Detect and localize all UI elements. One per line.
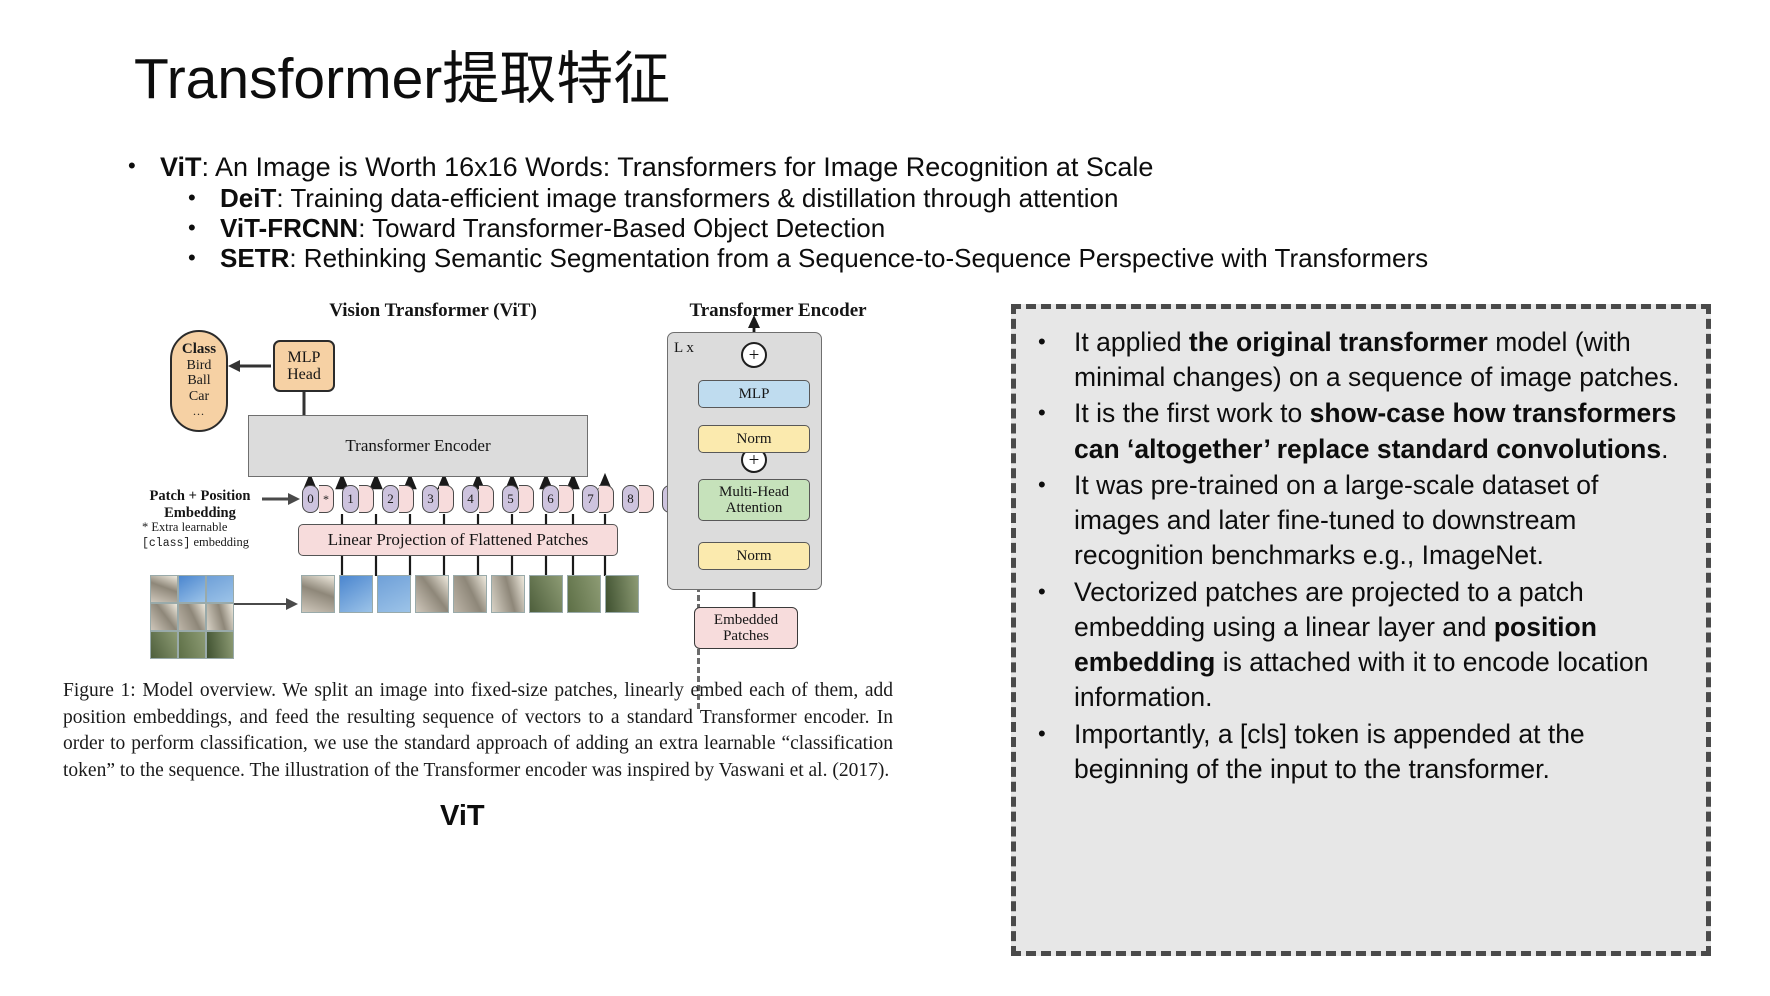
embedded-patches-block: Embedded Patches: [694, 607, 798, 649]
image-patch: [301, 575, 335, 613]
image-patch: [491, 575, 525, 613]
class-pill-ellipsis: ...: [172, 405, 226, 418]
embedded-line2: Patches: [714, 628, 778, 644]
extra-learnable-note: * Extra learnable [class] embedding: [142, 520, 274, 551]
patch-token-5: 5: [502, 485, 534, 513]
outline-item-text: ViT: An Image is Worth 16x16 Words: Tran…: [160, 152, 1748, 182]
outline-item-text: DeiT: Training data-efficient image tran…: [220, 184, 1748, 213]
token-index-label: 6: [542, 485, 559, 513]
bullet-icon: •: [188, 244, 220, 272]
image-patch: [453, 575, 487, 613]
figure-caption: Figure 1: Model overview. We split an im…: [63, 678, 893, 784]
encoder-multi-head-attention-block: Multi-Head Attention: [698, 479, 810, 521]
extra-learnable-line2: [class] embedding: [142, 535, 274, 551]
source-image-cell: [206, 631, 234, 659]
mha-line1: Multi-Head: [719, 484, 789, 500]
source-image-cell: [178, 631, 206, 659]
transformer-encoder-block: Transformer Encoder: [248, 415, 588, 477]
source-image-cell: [178, 603, 206, 631]
patch-token-3: 3: [422, 485, 454, 513]
image-patch: [377, 575, 411, 613]
token-index-label: 0: [302, 485, 319, 513]
token-position-slot: [399, 485, 414, 513]
encoder-norm-lower-block: Norm: [698, 542, 810, 570]
figure-label-vit: ViT: [440, 800, 485, 833]
vit-figure: Vision Transformer (ViT) Transformer Enc…: [60, 292, 1000, 892]
class-pill-title: Class: [172, 341, 226, 358]
image-patch: [339, 575, 373, 613]
source-image-cell: [150, 631, 178, 659]
outline-item-0: •ViT: An Image is Worth 16x16 Words: Tra…: [128, 152, 1748, 182]
encoder-norm-upper-block: Norm: [698, 425, 810, 453]
source-image-cell: [150, 603, 178, 631]
outline-item-1: •DeiT: Training data-efficient image tra…: [128, 184, 1748, 213]
token-position-slot: [359, 485, 374, 513]
note-item-0: •It applied the original transformer mod…: [1038, 325, 1680, 395]
image-patch-strip: [301, 575, 639, 613]
bullet-icon: •: [1038, 396, 1074, 431]
token-index-label: 4: [462, 485, 479, 513]
notes-panel: •It applied the original transformer mod…: [1011, 304, 1711, 956]
bullet-icon: •: [188, 184, 220, 212]
class-token-tail: embedding: [190, 535, 249, 549]
class-pill-item-ball: Ball: [172, 373, 226, 389]
patch-token-2: 2: [382, 485, 414, 513]
patch-token-6: 6: [542, 485, 574, 513]
class-pill-item-bird: Bird: [172, 358, 226, 374]
mha-line2: Attention: [719, 500, 789, 516]
patch-position-line1: Patch + Position: [140, 488, 260, 505]
patch-token-row: 0*123456789: [302, 485, 694, 513]
token-position-slot: [599, 485, 614, 513]
class-token-mono: [class]: [142, 537, 190, 550]
token-index-label: 3: [422, 485, 439, 513]
source-image-cell: [150, 575, 178, 603]
mlp-head-block: MLP Head: [273, 340, 335, 392]
note-item-text: It is the first work to show-case how tr…: [1074, 396, 1680, 466]
bullet-icon: •: [128, 152, 160, 180]
token-index-label: 1: [342, 485, 359, 513]
note-item-2: •It was pre-trained on a large-scale dat…: [1038, 468, 1680, 574]
embedded-line1: Embedded: [714, 612, 778, 628]
token-position-slot: [439, 485, 454, 513]
note-item-text: It was pre-trained on a large-scale data…: [1074, 468, 1680, 574]
image-patch: [567, 575, 601, 613]
residual-add-top: +: [741, 342, 767, 368]
token-index-label: 2: [382, 485, 399, 513]
class-pill-item-car: Car: [172, 389, 226, 405]
extra-learnable-line1: * Extra learnable: [142, 520, 274, 535]
token-index-label: 7: [582, 485, 599, 513]
outline-item-text: ViT-FRCNN: Toward Transformer-Based Obje…: [220, 214, 1748, 243]
bullet-icon: •: [188, 214, 220, 242]
source-image-cell: [178, 575, 206, 603]
note-item-4: •Importantly, a [cls] token is appended …: [1038, 717, 1680, 787]
outline-list: •ViT: An Image is Worth 16x16 Words: Tra…: [128, 152, 1748, 275]
note-item-1: •It is the first work to show-case how t…: [1038, 396, 1680, 466]
patch-position-line2: Embedding: [140, 505, 260, 522]
bullet-icon: •: [1038, 717, 1074, 752]
outline-item-text: SETR: Rethinking Semantic Segmentation f…: [220, 244, 1748, 273]
note-item-text: It applied the original transformer mode…: [1074, 325, 1680, 395]
image-patch: [605, 575, 639, 613]
source-image-cell: [206, 575, 234, 603]
token-position-slot: *: [319, 485, 334, 513]
patch-position-label: Patch + Position Embedding: [140, 488, 260, 521]
token-index-label: 8: [622, 485, 639, 513]
outline-item-2: •ViT-FRCNN: Toward Transformer-Based Obj…: [128, 214, 1748, 243]
image-patch: [415, 575, 449, 613]
patch-token-7: 7: [582, 485, 614, 513]
outline-item-3: •SETR: Rethinking Semantic Segmentation …: [128, 244, 1748, 273]
token-position-slot: [519, 485, 534, 513]
token-position-slot: [639, 485, 654, 513]
patch-token-0: 0*: [302, 485, 334, 513]
token-index-label: 5: [502, 485, 519, 513]
mlp-head-line2: Head: [287, 366, 321, 383]
patch-token-8: 8: [622, 485, 654, 513]
source-image-cell: [206, 603, 234, 631]
class-output-pill: Class Bird Ball Car ...: [170, 330, 228, 432]
source-image-grid: [150, 575, 232, 657]
page-title: Transformer提取特征: [134, 50, 670, 110]
note-item-text: Importantly, a [cls] token is appended a…: [1074, 717, 1680, 787]
patch-token-1: 1: [342, 485, 374, 513]
linear-projection-block: Linear Projection of Flattened Patches: [298, 524, 618, 556]
note-item-text: Vectorized patches are projected to a pa…: [1074, 575, 1680, 716]
bullet-icon: •: [1038, 325, 1074, 360]
token-position-slot: [479, 485, 494, 513]
encoder-repeat-label: L x: [674, 340, 694, 357]
bullet-icon: •: [1038, 468, 1074, 503]
token-position-slot: [559, 485, 574, 513]
patch-token-4: 4: [462, 485, 494, 513]
image-patch: [529, 575, 563, 613]
mlp-head-line1: MLP: [288, 349, 321, 366]
bullet-icon: •: [1038, 575, 1074, 610]
encoder-mlp-block: MLP: [698, 380, 810, 408]
note-item-3: •Vectorized patches are projected to a p…: [1038, 575, 1680, 716]
